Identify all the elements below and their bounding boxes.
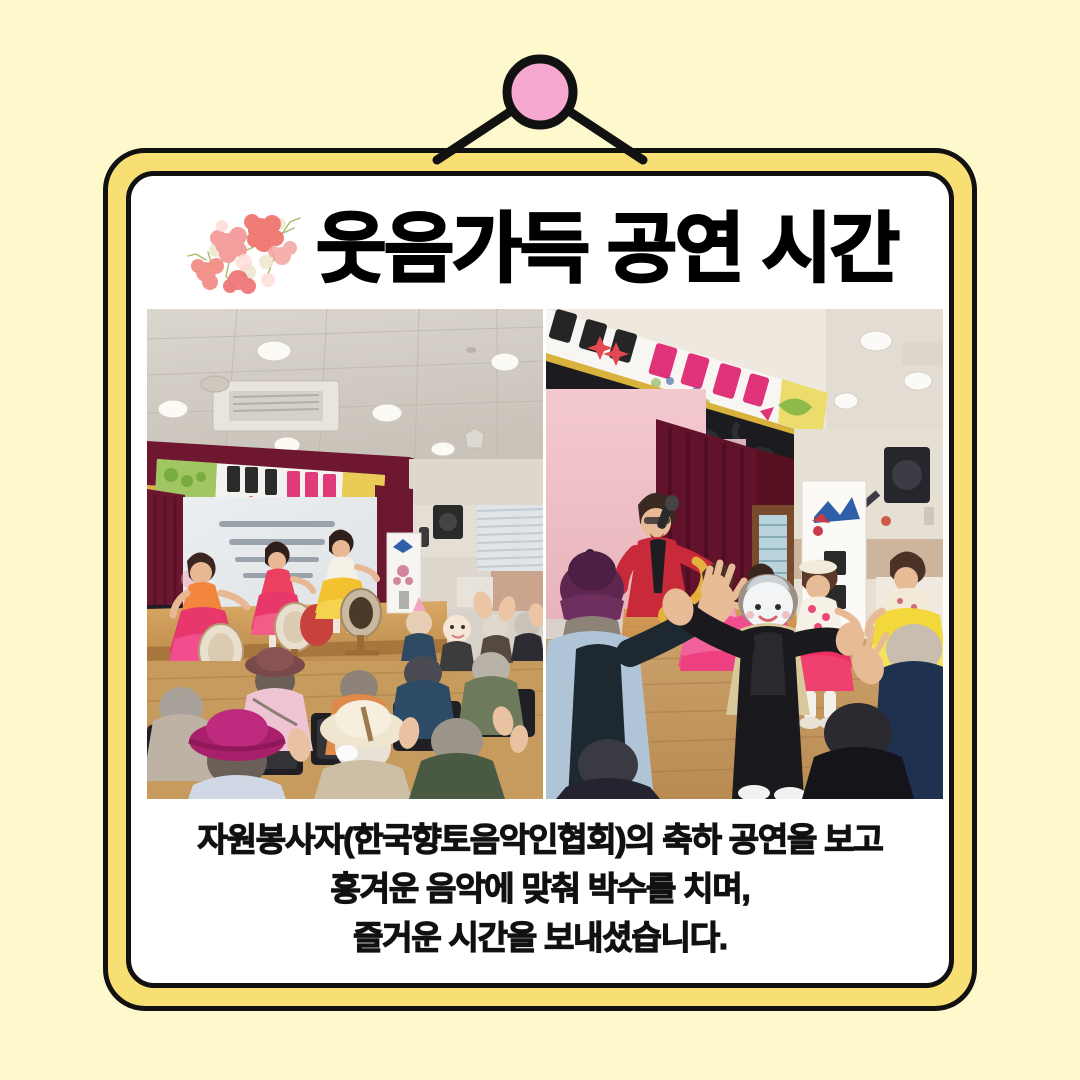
photo-right <box>546 309 943 799</box>
caption-line-3: 즐거운 시간을 보내셨습니다. <box>131 914 949 963</box>
poster-card-frame: 웃음가득 공연 시간 <box>103 148 977 1011</box>
photo-strip <box>147 309 943 799</box>
poster-header: 웃음가득 공연 시간 <box>131 192 949 308</box>
poster-card: 웃음가득 공연 시간 <box>126 171 954 988</box>
page-title: 웃음가득 공연 시간 <box>316 212 898 288</box>
photo-left <box>147 309 543 799</box>
caption-line-1: 자원봉사자(한국향토음악인협회)의 축하 공연을 보고 <box>131 816 949 865</box>
pink-hanger-knob <box>507 59 573 125</box>
caption-line-2: 흥겨운 음악에 맞춰 박수를 치며, <box>131 865 949 914</box>
cherry-blossom-icon <box>182 200 308 300</box>
caption-block: 자원봉사자(한국향토음악인협회)의 축하 공연을 보고 흥겨운 음악에 맞춰 박… <box>131 816 949 962</box>
